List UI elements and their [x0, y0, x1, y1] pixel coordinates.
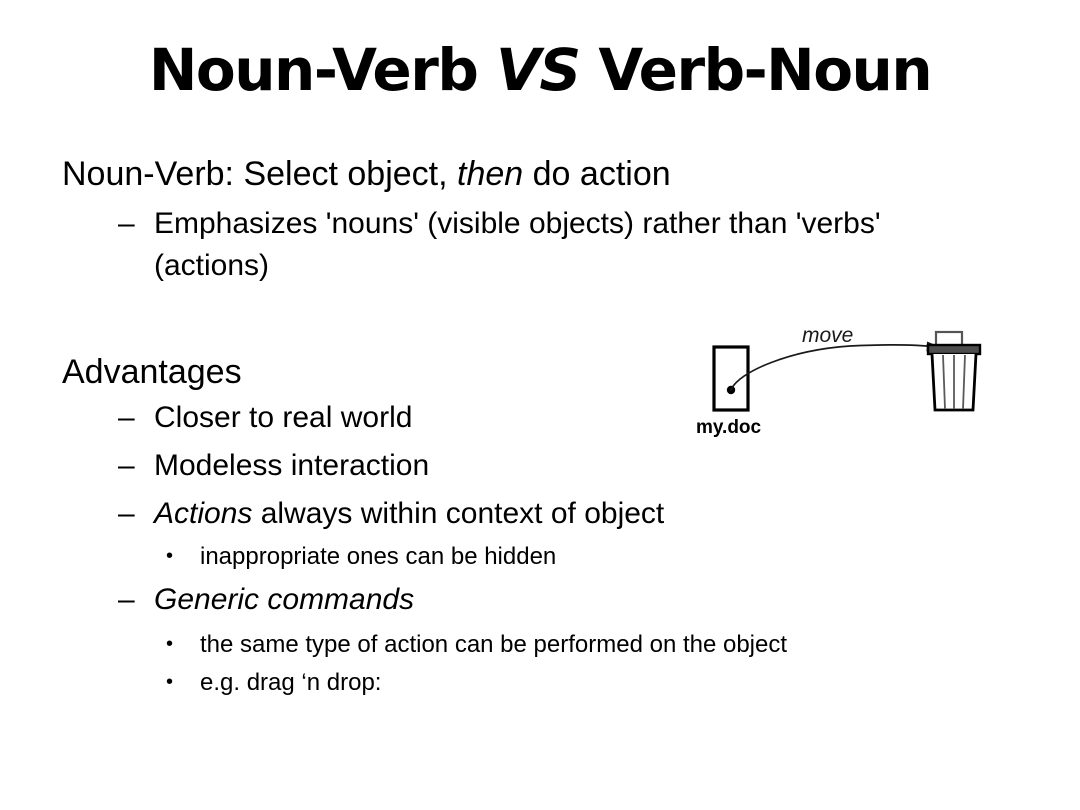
move-label: move [802, 324, 853, 347]
outline-text: Closer to real world [154, 401, 412, 434]
outline-text: Actions [154, 497, 252, 530]
bullet-dot-icon: • [166, 546, 200, 566]
outline-text: Advantages [62, 353, 242, 391]
bullet-dot-icon: • [166, 672, 200, 692]
outline-text: (actions) [154, 249, 269, 282]
outline-subbullet: •the same type of action can be performe… [166, 633, 787, 657]
move-arrow-icon [731, 342, 941, 391]
outline-text: Emphasizes 'nouns' (visible objects) rat… [154, 207, 881, 240]
bullet-dash-icon: – [118, 499, 154, 529]
title-part-emphasis: VS [496, 36, 580, 104]
bullet-dash-icon: – [118, 451, 154, 481]
title-part-pre: Noun-Verb [149, 36, 496, 104]
outline-subbullet: •e.g. drag ‘n drop: [166, 671, 381, 695]
outline-text: then [457, 155, 523, 193]
title-part-post: Verb-Noun [580, 36, 931, 104]
outline-bullet: –Modeless interaction [118, 451, 429, 481]
outline-bullet: –Closer to real world [118, 403, 412, 433]
document-label: my.doc [696, 417, 762, 438]
outline-bullet: –Actions always within context of object [118, 499, 664, 529]
outline-text: Generic commands [154, 583, 414, 616]
outline-text: do action [523, 155, 670, 193]
outline-bullet: –Generic commands [118, 585, 414, 615]
slide-body: Noun-Verb: Select object, then do action… [0, 145, 1080, 805]
outline-text: Modeless interaction [154, 449, 429, 482]
bullet-dash-icon: – [118, 403, 154, 433]
page-title: Noun-Verb VS Verb-Noun [0, 40, 1080, 101]
outline-heading: Noun-Verb: Select object, then do action [62, 157, 671, 191]
bullet-dash-icon: – [118, 585, 154, 615]
outline-text: inappropriate ones can be hidden [200, 543, 556, 570]
outline-text: Noun-Verb: Select object, [62, 155, 457, 193]
bullet-dot-icon: • [166, 634, 200, 654]
outline-text: e.g. drag ‘n drop: [200, 669, 381, 696]
bullet-dash-icon: – [118, 209, 154, 239]
outline-heading: Advantages [62, 355, 242, 389]
slide: Noun-Verb VS Verb-Noun Noun-Verb: Select… [0, 0, 1080, 810]
outline-bullet: (actions) [154, 251, 269, 281]
trash-can-icon [928, 332, 980, 410]
outline-bullet: –Emphasizes 'nouns' (visible objects) ra… [118, 209, 881, 239]
drag-n-drop-illustration: move my.doc [680, 320, 1010, 450]
document-icon [714, 347, 748, 410]
outline-subbullet: •inappropriate ones can be hidden [166, 545, 556, 569]
outline-text: always within context of object [252, 497, 664, 530]
outline-text: the same type of action can be performed… [200, 631, 787, 658]
